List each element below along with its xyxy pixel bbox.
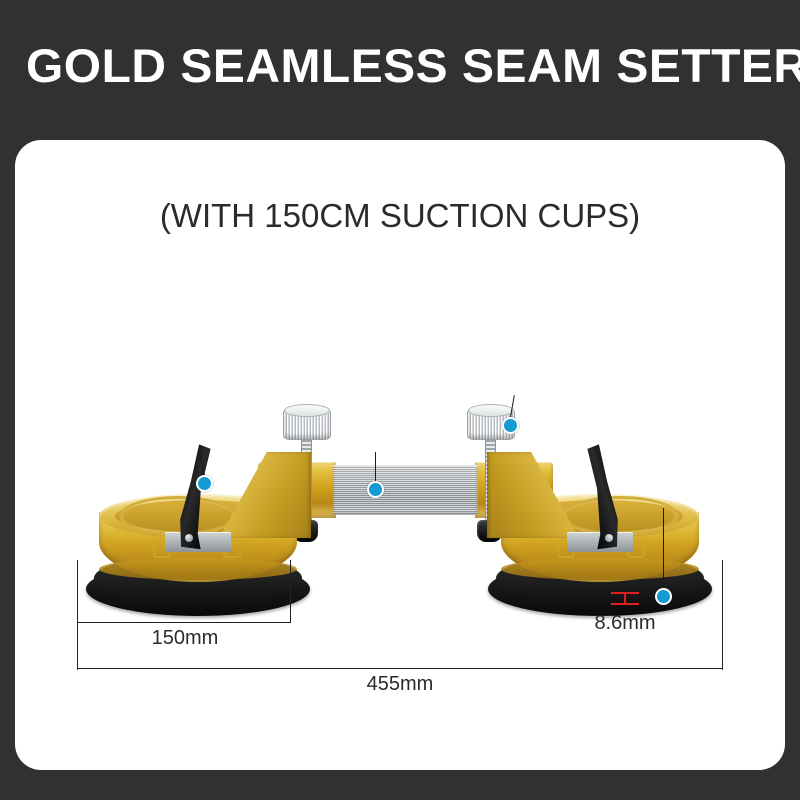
- dimension-label-8-6mm: 8.6mm: [555, 612, 695, 635]
- dimension-line-455mm: [77, 668, 723, 669]
- suction-cup-right: [485, 440, 715, 640]
- knob-top-face: [468, 404, 514, 417]
- product-illustration: 150mm 8.6mm 455mm: [15, 140, 785, 770]
- handle-loop: [119, 496, 237, 536]
- suction-cup-left: [83, 440, 313, 640]
- extension-line-left-inner: [290, 560, 291, 622]
- callout-leader-line: [663, 508, 664, 588]
- extension-line-left-outer: [77, 560, 78, 670]
- product-image-screen: GOLD SEAMLESS SEAM SETTER ··· ··· ···· ·…: [0, 0, 800, 800]
- handle-loop: [561, 496, 679, 536]
- background-watermark: ··· ··· ···· ·· ···: [280, 110, 580, 122]
- callout-dot: [367, 481, 384, 498]
- callout-dot: [655, 588, 672, 605]
- thickness-marker-bottom: [611, 603, 639, 605]
- lever-pivot-rivet: [605, 534, 613, 542]
- dimension-label-150mm: 150mm: [115, 627, 255, 650]
- dimension-line-150mm: [77, 622, 291, 623]
- knob-top-face: [284, 404, 330, 417]
- callout-dot: [196, 475, 213, 492]
- extension-line-right-outer: [722, 560, 723, 670]
- gold-cup-ring: [99, 558, 297, 580]
- callout-leader-line: [375, 452, 376, 481]
- page-title: GOLD SEAMLESS SEAM SETTER: [26, 38, 791, 93]
- center-connecting-bar: [333, 465, 478, 515]
- lever-pivot-rivet: [185, 534, 193, 542]
- product-card: (WITH 150CM SUCTION CUPS): [15, 140, 785, 770]
- title-bar: GOLD SEAMLESS SEAM SETTER ··· ··· ···· ·…: [0, 0, 800, 140]
- callout-dot: [502, 417, 519, 434]
- gold-cup-ring: [501, 558, 699, 580]
- dimension-label-455mm: 455mm: [330, 673, 470, 696]
